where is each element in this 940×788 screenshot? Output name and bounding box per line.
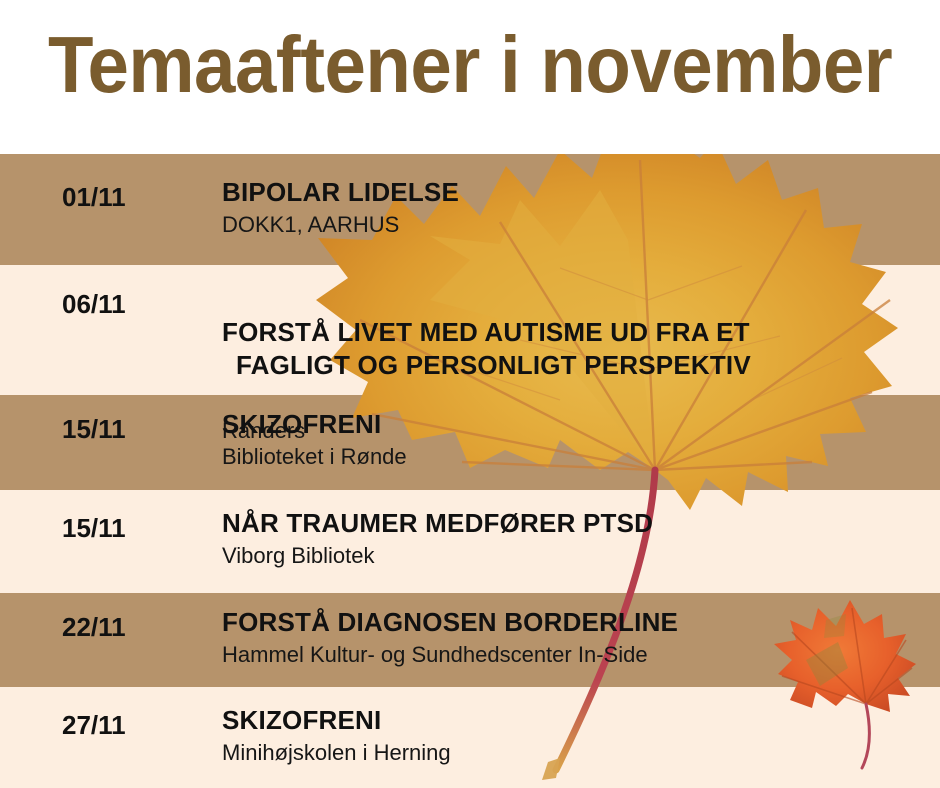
event-venue: Hammel Kultur- og Sundhedscenter In-Side	[222, 641, 930, 669]
event-title: FORSTÅ DIAGNOSEN BORDERLINE	[222, 606, 930, 639]
list-item[interactable]: 22/11 FORSTÅ DIAGNOSEN BORDERLINE Hammel…	[0, 593, 940, 687]
list-item[interactable]: 01/11 BIPOLAR LIDELSE DOKK1, AARHUS	[0, 154, 940, 265]
list-item[interactable]: 06/11 FORSTÅ LIVET MED AUTISME UD FRA ET…	[0, 265, 940, 395]
event-body: SKIZOFRENI Minihøjskolen i Herning	[222, 704, 930, 767]
event-title: SKIZOFRENI	[222, 408, 930, 441]
event-title-line-2: FAGLIGT OG PERSONLIGT PERSPEKTIV	[222, 349, 930, 382]
event-venue: DOKK1, AARHUS	[222, 211, 930, 239]
event-list: 01/11 BIPOLAR LIDELSE DOKK1, AARHUS 06/1…	[0, 154, 940, 788]
event-title: SKIZOFRENI	[222, 704, 930, 737]
event-venue: Minihøjskolen i Herning	[222, 739, 930, 767]
poster-root: Temaaftener i november	[0, 0, 940, 788]
event-venue: Viborg Bibliotek	[222, 542, 930, 570]
event-title-line-1: FORSTÅ LIVET MED AUTISME UD FRA ET	[222, 317, 750, 347]
page-title: Temaaftener i november	[48, 22, 892, 108]
event-date: 22/11	[62, 612, 126, 642]
event-title: NÅR TRAUMER MEDFØRER PTSD	[222, 507, 930, 540]
event-date: 15/11	[62, 513, 126, 543]
event-date: 01/11	[62, 182, 126, 212]
event-date: 27/11	[62, 710, 126, 740]
event-date: 06/11	[62, 289, 126, 319]
event-date: 15/11	[62, 414, 126, 444]
event-venue: Biblioteket i Rønde	[222, 443, 930, 471]
event-title: BIPOLAR LIDELSE	[222, 176, 930, 209]
poster-header: Temaaftener i november	[0, 0, 940, 154]
event-body: NÅR TRAUMER MEDFØRER PTSD Viborg Bibliot…	[222, 507, 930, 570]
list-item[interactable]: 15/11 NÅR TRAUMER MEDFØRER PTSD Viborg B…	[0, 490, 940, 593]
list-item[interactable]: 15/11 SKIZOFRENI Biblioteket i Rønde	[0, 395, 940, 490]
list-item[interactable]: 27/11 SKIZOFRENI Minihøjskolen i Herning	[0, 687, 940, 788]
event-body: SKIZOFRENI Biblioteket i Rønde	[222, 408, 930, 471]
event-body: BIPOLAR LIDELSE DOKK1, AARHUS	[222, 176, 930, 239]
event-body: FORSTÅ DIAGNOSEN BORDERLINE Hammel Kultu…	[222, 606, 930, 669]
